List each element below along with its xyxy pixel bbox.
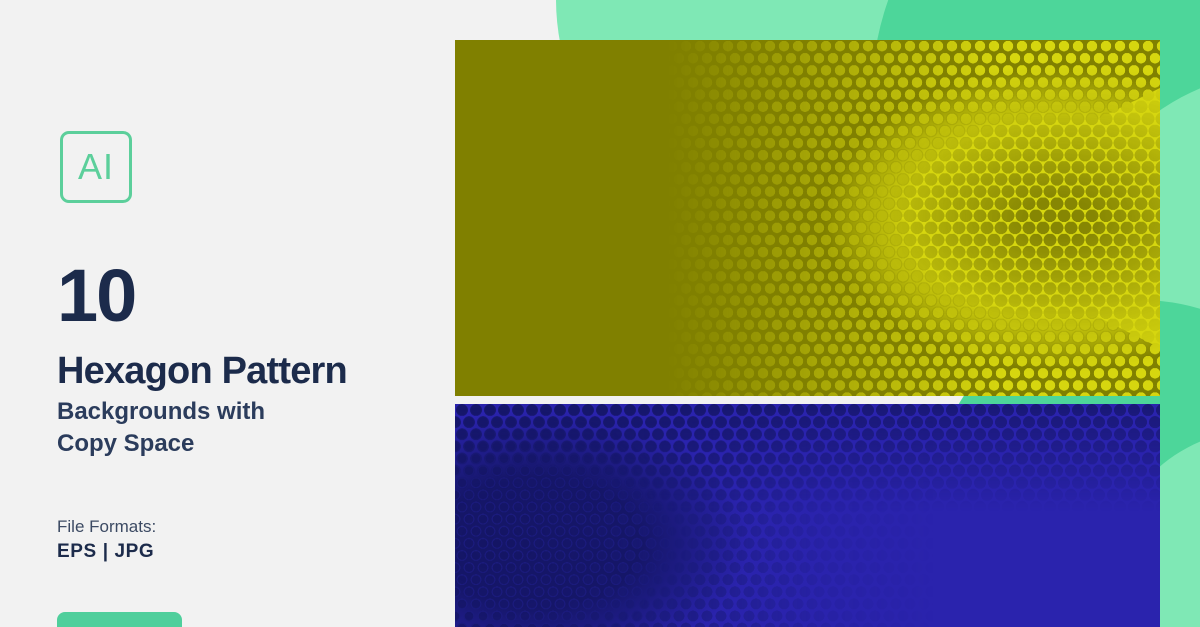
page-subtitle: Backgrounds with Copy Space xyxy=(57,396,437,461)
preview-olive-hexagon[interactable] xyxy=(455,40,1160,396)
page-title: Hexagon Pattern xyxy=(57,352,347,390)
hexagon-halftone-blue xyxy=(455,404,1160,627)
info-panel: AI 10 Hexagon Pattern Backgrounds with C… xyxy=(0,0,455,627)
file-formats-value: EPS | JPG xyxy=(57,541,154,564)
hexagon-pattern-dark xyxy=(455,40,1160,396)
preview-blue-hexagon[interactable] xyxy=(455,404,1160,627)
ai-format-badge: AI xyxy=(60,131,132,203)
item-count: 10 xyxy=(57,259,135,333)
file-formats-label: File Formats: xyxy=(57,517,156,537)
promo-banner: AI 10 Hexagon Pattern Backgrounds with C… xyxy=(0,0,1200,627)
cta-button[interactable] xyxy=(57,612,182,627)
ai-badge-label: AI xyxy=(78,149,114,185)
